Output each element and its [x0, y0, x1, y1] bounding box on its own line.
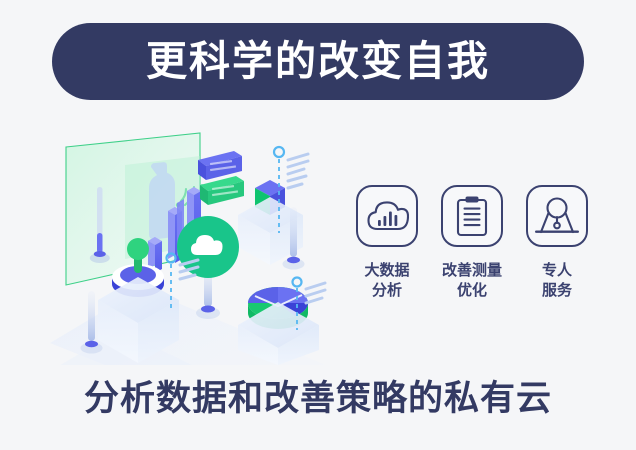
feature-item-big-data[interactable]: 大数据 分析: [352, 185, 422, 330]
illustration: [50, 125, 340, 365]
feature-item-service[interactable]: 专人 服务: [522, 185, 592, 330]
clipboard-icon: [441, 185, 503, 247]
header-banner: 更科学的改变自我: [52, 23, 584, 100]
feature-label-line2: 服务: [542, 281, 572, 299]
feature-label-service: 专人 服务: [518, 260, 596, 301]
poster-canvas: 更科学的改变自我: [0, 0, 636, 450]
cloud-bar-chart-icon: [356, 185, 418, 247]
feature-label-line1: 改善测量: [442, 261, 502, 279]
banner-title: 更科学的改变自我: [146, 41, 490, 82]
feature-list: 大数据 分析 改善测量 优化: [352, 185, 592, 330]
person-service-icon: [526, 185, 588, 247]
feature-label-line2: 优化: [457, 281, 487, 299]
feature-label-line2: 分析: [372, 281, 402, 299]
feature-label-line1: 大数据: [364, 261, 409, 279]
tag-card-blue: [198, 151, 242, 180]
feature-label-measurement: 改善测量 优化: [433, 260, 511, 301]
tagline: 分析数据和改善策略的私有云: [0, 382, 636, 417]
feature-item-measurement[interactable]: 改善测量 优化: [437, 185, 507, 330]
feature-label-big-data: 大数据 分析: [348, 260, 426, 301]
feature-label-line1: 专人: [542, 261, 572, 279]
tag-card-green: [200, 176, 244, 205]
cloud-badge: [177, 216, 239, 319]
